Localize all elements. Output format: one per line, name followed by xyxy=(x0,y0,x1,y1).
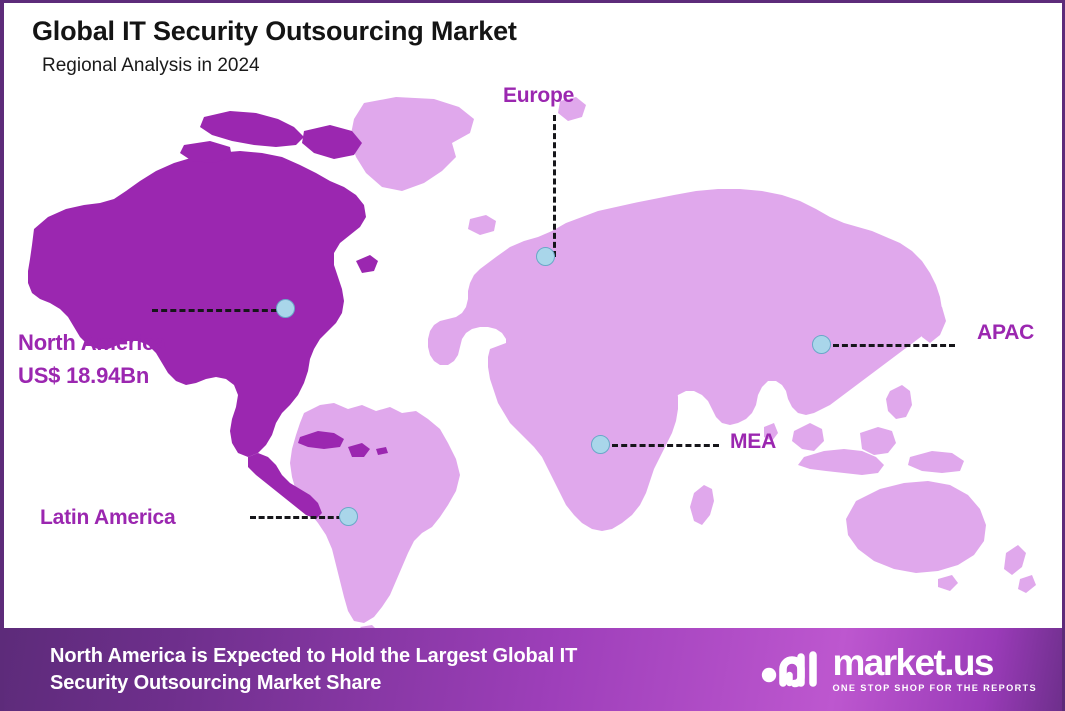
leader-line-mea xyxy=(612,444,719,447)
region-name-north-america: North America xyxy=(18,330,166,355)
region-name-mea: MEA xyxy=(730,430,776,453)
leader-line-apac xyxy=(833,344,955,347)
region-value-north-america: US$ 18.94Bn xyxy=(18,363,166,389)
page-title: Global IT Security Outsourcing Market xyxy=(32,17,1062,47)
page-subtitle: Regional Analysis in 2024 xyxy=(42,56,1062,77)
footer-headline: North America is Expected to Hold the La… xyxy=(50,643,577,697)
region-label-mea[interactable]: MEA xyxy=(730,430,776,454)
map-marker-apac[interactable] xyxy=(812,335,831,354)
leader-line-north-america xyxy=(152,309,277,312)
map-marker-north-america[interactable] xyxy=(276,299,295,318)
region-label-north-america[interactable]: North America US$ 18.94Bn xyxy=(18,330,166,389)
region-label-europe[interactable]: Europe xyxy=(503,84,574,108)
region-name-apac: APAC xyxy=(977,321,1034,344)
footer-banner: North America is Expected to Hold the La… xyxy=(4,628,1065,711)
footer-headline-line2: Security Outsourcing Market Share xyxy=(50,670,577,697)
market-us-logo-mark-icon xyxy=(761,647,823,693)
brand-logo[interactable]: market.us ONE STOP SHOP FOR THE REPORTS xyxy=(761,646,1051,693)
header: Global IT Security Outsourcing Market Re… xyxy=(4,3,1062,77)
logo-tagline: ONE STOP SHOP FOR THE REPORTS xyxy=(832,683,1037,693)
region-label-latin-america[interactable]: Latin America xyxy=(40,506,176,530)
map-marker-mea[interactable] xyxy=(591,435,610,454)
region-label-apac[interactable]: APAC xyxy=(977,321,1034,345)
footer-headline-line1: North America is Expected to Hold the La… xyxy=(50,645,577,667)
region-name-latin-america: Latin America xyxy=(40,506,176,529)
leader-line-europe xyxy=(553,115,556,257)
map-marker-europe[interactable] xyxy=(536,247,555,266)
leader-line-latin-america xyxy=(250,516,351,519)
logo-wordmark: market.us xyxy=(832,646,992,680)
region-name-europe: Europe xyxy=(503,84,574,107)
logo-text-block: market.us ONE STOP SHOP FOR THE REPORTS xyxy=(832,646,1037,693)
infographic-root: Global IT Security Outsourcing Market Re… xyxy=(0,0,1065,711)
map-marker-latin-america[interactable] xyxy=(339,507,358,526)
